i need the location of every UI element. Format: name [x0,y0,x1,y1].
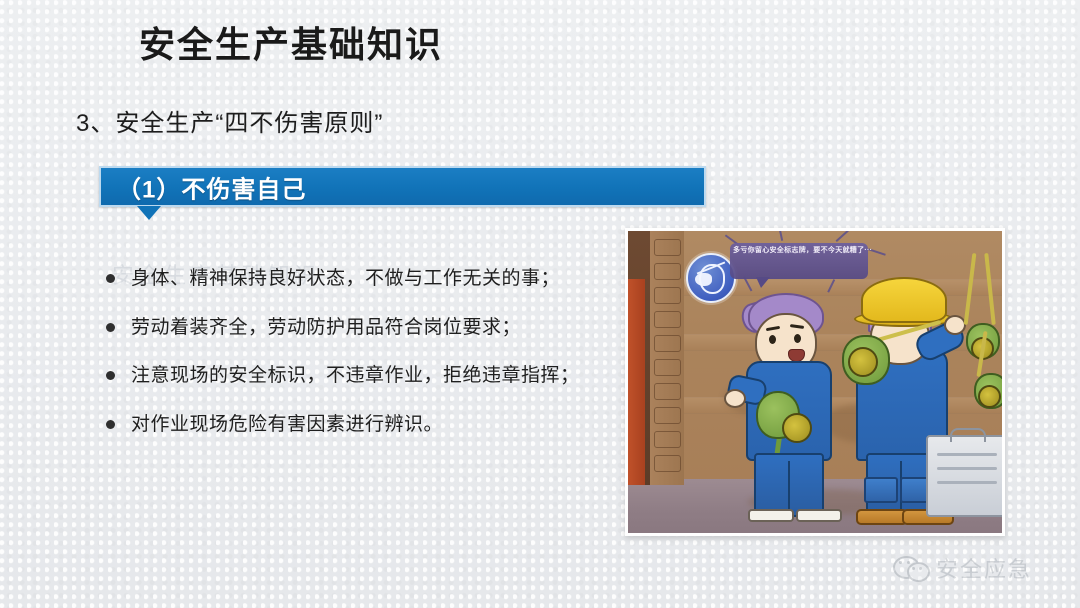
page-title: 安全生产基础知识 [139,22,443,67]
safety-cartoon-illustration: 多亏你留心安全标志牌，要不今天就糟了··· [625,228,1005,536]
bullet-list: 身体、精神保持良好状态，不做与工作无关的事； 劳动着装齐全，劳动防护用品符合岗位… [106,265,626,459]
slide-canvas: 安全生产基础知识 3、安全生产“四不伤害原则” （1）不伤害自己 安全生产基础知… [0,0,1080,608]
worker-a-shoe [748,509,794,522]
list-item-label: 注意现场的安全标识，不违章作业，拒绝违章指挥； [131,362,580,390]
equipment-cabinet [926,435,1002,517]
respirator-required-sign-icon [686,253,736,303]
worker-b-filter-canister [848,347,878,377]
red-door [628,279,645,484]
list-item: 对作业现场危险有害因素进行辨识。 [106,411,626,439]
speech-bubble-tail [756,277,770,288]
section-banner: （1）不伤害自己 [99,166,706,207]
list-item-label: 身体、精神保持良好状态，不做与工作无关的事； [131,265,560,293]
worker-b-boot [856,509,908,525]
list-item-label: 劳动着装齐全，劳动防护用品符合岗位要求； [131,314,521,342]
banner-bar: （1）不伤害自己 [99,166,706,207]
footer-brand: 安全应急 [893,552,1032,584]
hanging-filter-canister [978,385,1001,408]
list-item: 身体、精神保持良好状态，不做与工作无关的事； [106,265,626,293]
worker-a-legs [754,453,824,517]
bullet-dot-icon [106,274,115,283]
worker-b-hand [944,315,966,335]
bullet-dot-icon [106,323,115,332]
banner-arrow-icon [137,206,161,220]
speech-bubble-text: 多亏你留心安全标志牌，要不今天就糟了··· [733,246,873,257]
banner-label: （1）不伤害自己 [117,169,306,204]
list-item-label: 对作业现场危险有害因素进行辨识。 [131,411,443,439]
worker-a-shoe [796,509,842,522]
bullet-dot-icon [106,420,115,429]
worker-b-hard-hat [861,277,947,323]
wechat-icon [893,556,927,580]
bullet-dot-icon [106,371,115,380]
brick-column [650,231,684,485]
worker-a-filter-canister [782,413,812,443]
illustration-scene: 多亏你留心安全标志牌，要不今天就糟了··· [628,231,1002,533]
worker-a-hand [724,389,746,408]
footer-brand-label: 安全应急 [936,552,1032,584]
section-subtitle: 3、安全生产“四不伤害原则” [76,103,383,138]
list-item: 劳动着装齐全，劳动防护用品符合岗位要求； [106,314,626,342]
list-item: 注意现场的安全标识，不违章作业，拒绝违章指挥； [106,362,626,390]
